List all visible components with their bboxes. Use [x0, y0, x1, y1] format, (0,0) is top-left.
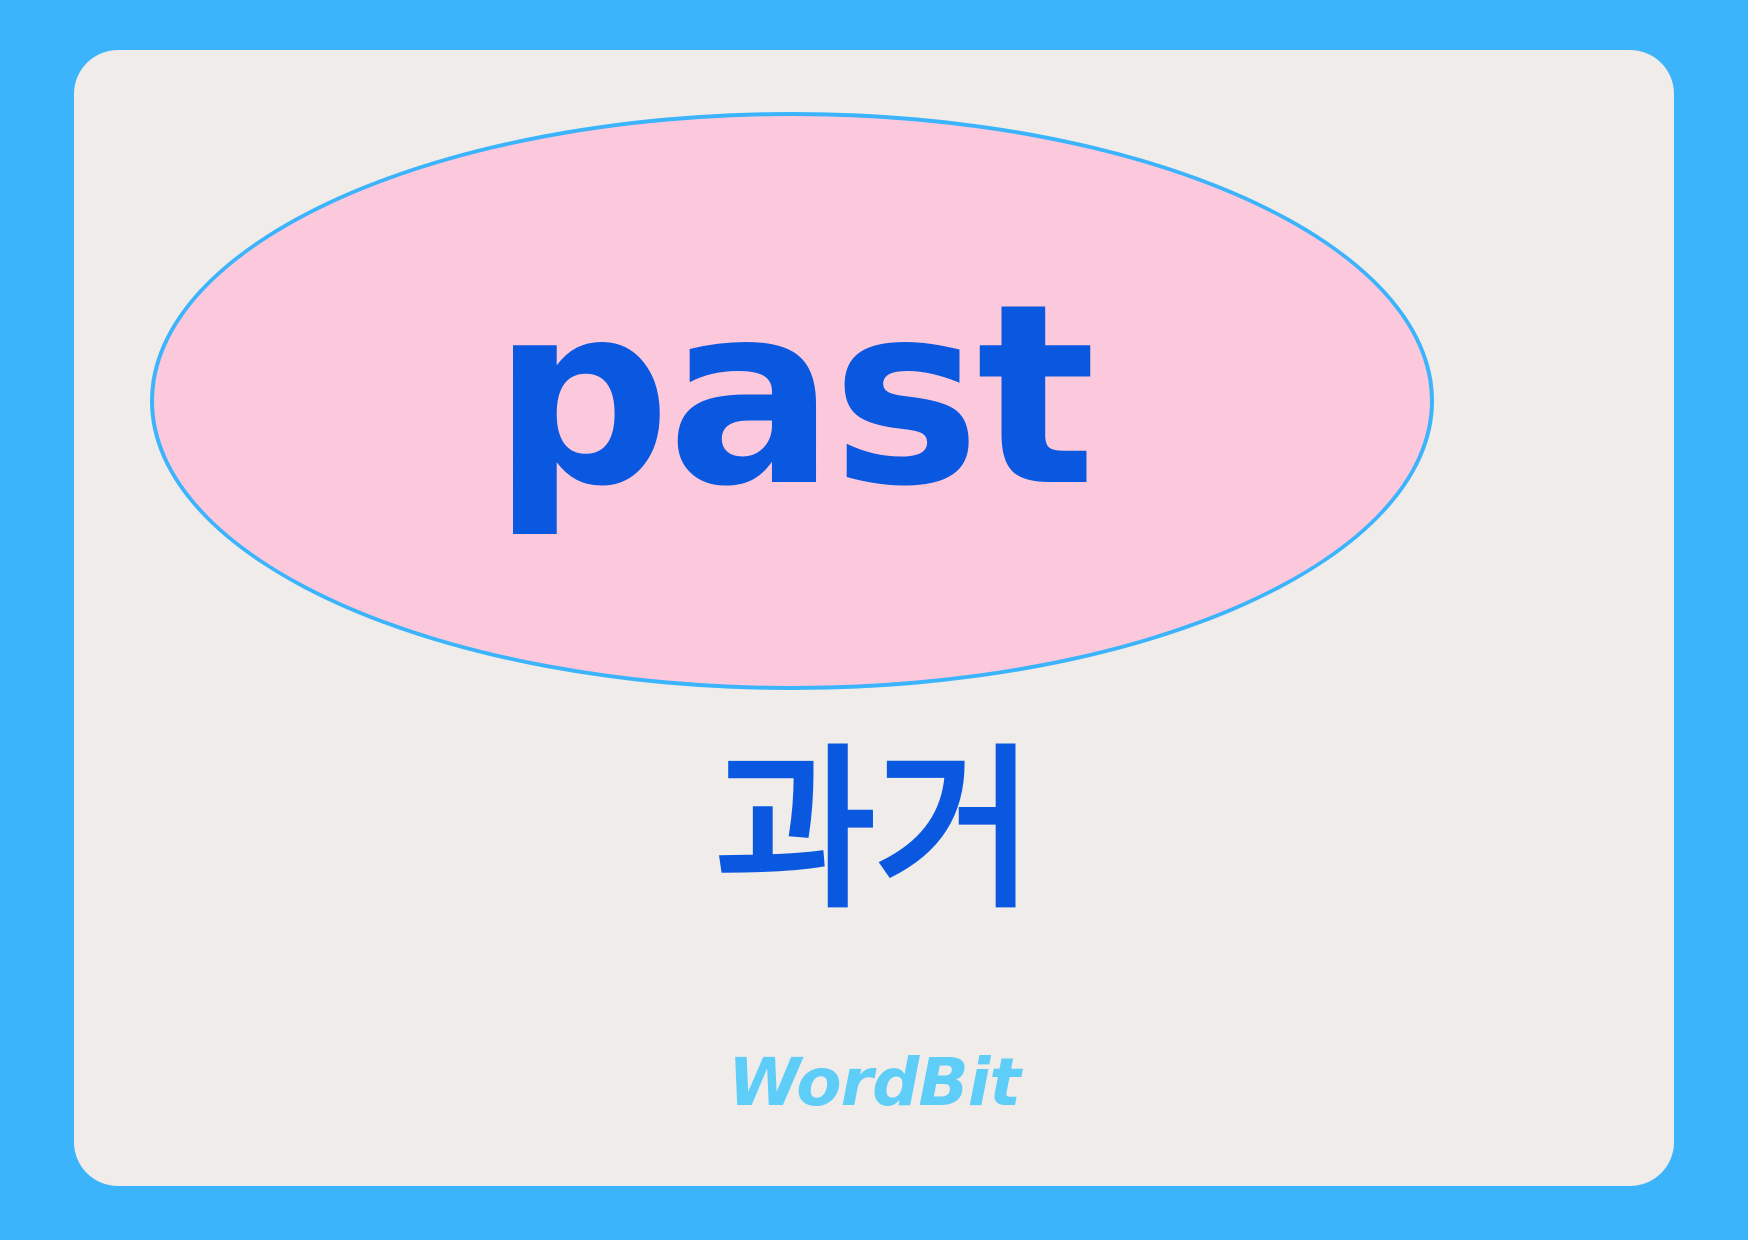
vocabulary-card[interactable]: past 과거 WordBit — [74, 50, 1674, 1186]
term-word: past — [150, 112, 1434, 690]
term-highlight-area: past — [74, 50, 1674, 750]
translation-word: 과거 — [74, 740, 1674, 924]
flashcard-screen: past 과거 WordBit — [0, 0, 1748, 1240]
wordbit-logo: WordBit — [74, 1050, 1674, 1116]
pink-ellipse-shape — [150, 112, 1434, 690]
